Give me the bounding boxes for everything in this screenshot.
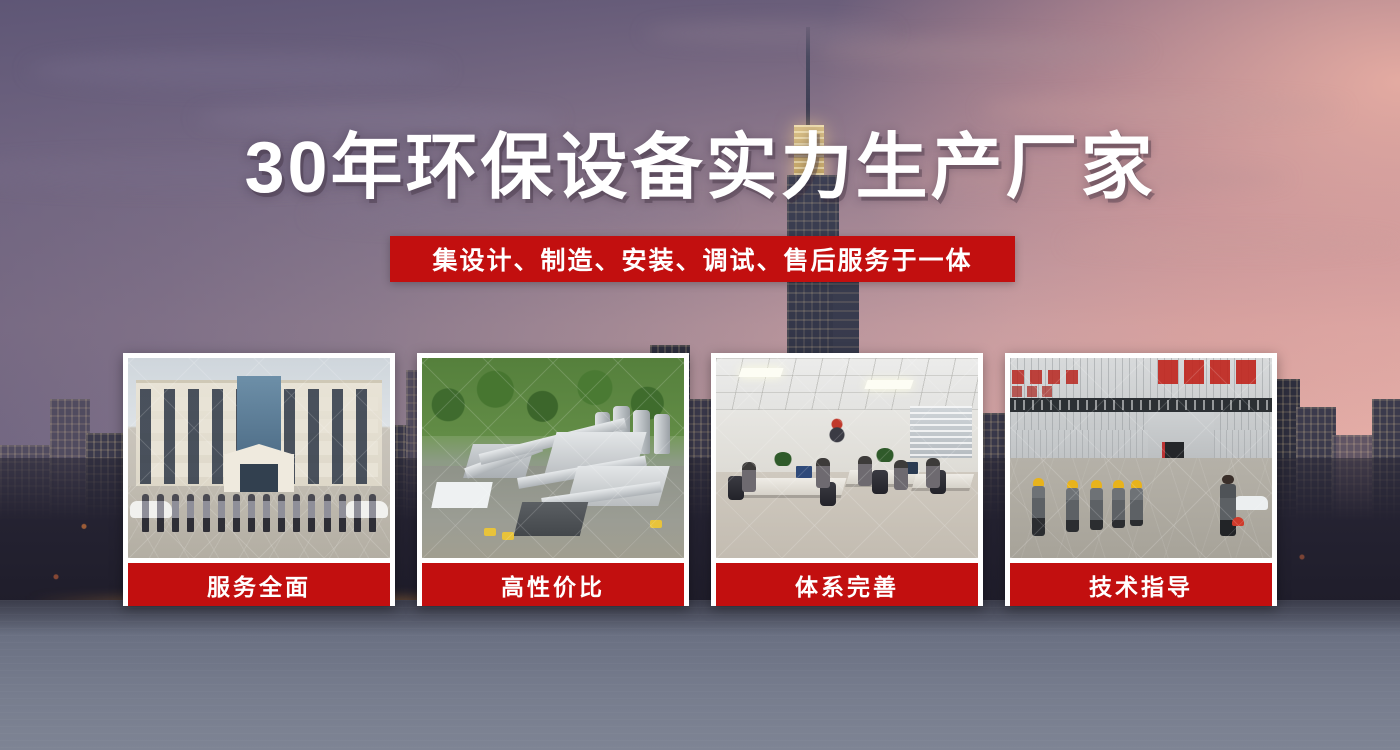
open-plan-office-with-staff-photo bbox=[716, 358, 978, 558]
card-caption: 技术指导 bbox=[1010, 563, 1272, 606]
subtitle-text: 集设计、制造、安装、调试、售后服务于一体 bbox=[432, 241, 972, 277]
feature-card[interactable]: 体系完善 bbox=[711, 353, 983, 606]
card-caption: 高性价比 bbox=[422, 563, 684, 606]
card-caption-label: 技术指导 bbox=[1089, 568, 1193, 602]
feature-card[interactable]: 高性价比 bbox=[417, 353, 689, 606]
subtitle-banner: 集设计、制造、安装、调试、售后服务于一体 bbox=[390, 236, 1015, 282]
tower-spire bbox=[806, 27, 810, 127]
card-caption: 服务全面 bbox=[128, 563, 390, 606]
wall-slogan-text bbox=[1158, 360, 1268, 384]
page-title: 30年环保设备实力生产厂家 bbox=[0, 132, 1400, 204]
feature-card-list: 服务全面 高性价比 bbox=[123, 353, 1277, 606]
red-helmet-icon bbox=[1232, 517, 1244, 526]
feature-card[interactable]: 服务全面 bbox=[123, 353, 395, 606]
river-water bbox=[0, 600, 1400, 750]
card-caption-label: 体系完善 bbox=[795, 568, 899, 602]
aerial-view-industrial-plant-photo bbox=[422, 358, 684, 558]
card-caption-label: 服务全面 bbox=[207, 568, 311, 602]
promo-banner: 30年环保设备实力生产厂家 集设计、制造、安装、调试、售后服务于一体 服务全面 bbox=[0, 0, 1400, 750]
company-headquarters-building-with-staff-photo bbox=[128, 358, 390, 558]
feature-card[interactable]: 技术指导 bbox=[1005, 353, 1277, 606]
factory-yard-workers-training-photo bbox=[1010, 358, 1272, 558]
card-caption-label: 高性价比 bbox=[501, 568, 605, 602]
card-caption: 体系完善 bbox=[716, 563, 978, 606]
